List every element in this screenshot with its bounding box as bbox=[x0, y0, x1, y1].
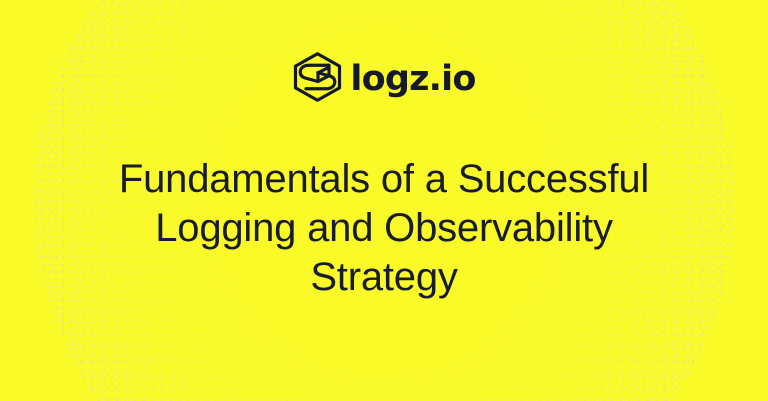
promo-banner: logz.io Fundamentals of a Successful Log… bbox=[0, 0, 768, 401]
page-title-line-1: Fundamentals of a Successful bbox=[84, 155, 684, 204]
page-title-line-3: Strategy bbox=[84, 253, 684, 302]
page-title: Fundamentals of a Successful Logging and… bbox=[84, 155, 684, 302]
logz-io-hexagon-cube-logo-icon bbox=[292, 52, 343, 102]
logo-wordmark: logz.io bbox=[350, 62, 475, 97]
logo-lockup[interactable]: logz.io bbox=[292, 52, 475, 102]
banner-content: logz.io Fundamentals of a Successful Log… bbox=[0, 0, 768, 401]
page-title-line-2: Logging and Observability bbox=[84, 204, 684, 253]
